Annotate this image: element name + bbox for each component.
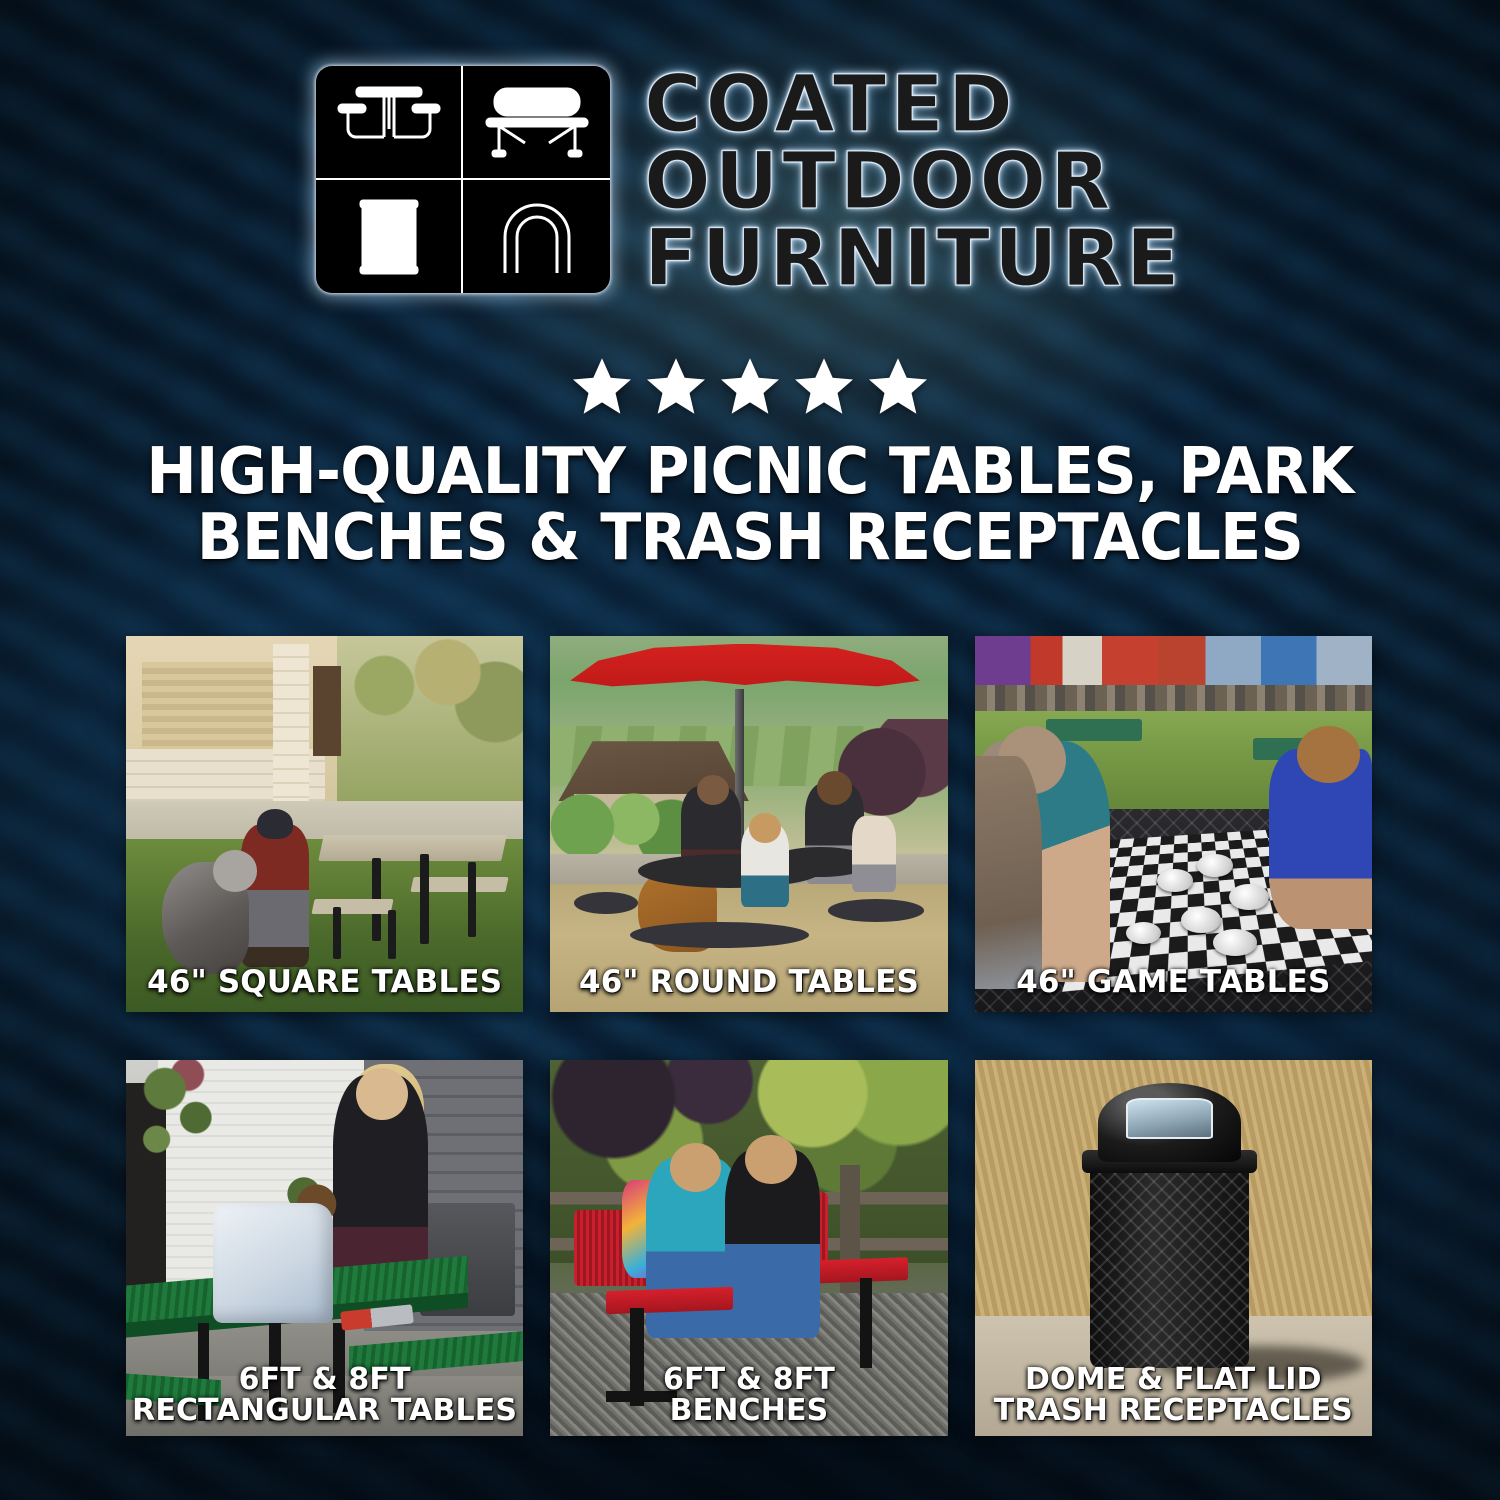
product-tile-benches[interactable]: 6FT & 8FT BENCHES (550, 1060, 947, 1436)
caption-trash-receptacles: DOME & FLAT LID TRASH RECEPTACLES (981, 1365, 1366, 1426)
star-icon (573, 358, 631, 414)
product-photo-round-tables (550, 636, 947, 1012)
caption-round-tables: 46" ROUND TABLES (556, 967, 941, 998)
flat-lid-trash-icon (316, 180, 463, 294)
product-tile-round-tables[interactable]: 46" ROUND TABLES (550, 636, 947, 1012)
brand-wordmark: COATED OUTDOOR FURNITURE (644, 66, 1183, 297)
caption-game-tables: 46" GAME TABLES (981, 967, 1366, 998)
product-photo-game-tables (975, 636, 1372, 1012)
product-photo-square-tables (126, 636, 523, 1012)
product-tile-square-tables[interactable]: 46" SQUARE TABLES (126, 636, 523, 1012)
caption-square-tables: 46" SQUARE TABLES (132, 967, 517, 998)
brand-word-coated: COATED (644, 68, 1183, 143)
page-title: HIGH-QUALITY PICNIC TABLES, PARK BENCHES… (130, 440, 1371, 572)
product-tile-trash-receptacles[interactable]: DOME & FLAT LID TRASH RECEPTACLES (975, 1060, 1372, 1436)
brand-word-furniture: FURNITURE (644, 222, 1183, 297)
picnic-table-icon (316, 66, 463, 180)
park-bench-icon (463, 66, 610, 180)
product-tile-rectangular-tables[interactable]: 6FT & 8FT RECTANGULAR TABLES (126, 1060, 523, 1436)
star-icon (795, 358, 853, 414)
star-icon (647, 358, 705, 414)
product-photo-grid: 46" SQUARE TABLES (126, 636, 1372, 1436)
caption-rectangular-tables: 6FT & 8FT RECTANGULAR TABLES (132, 1365, 517, 1426)
headline-line-2: BENCHES & TRASH RECEPTACLES (130, 506, 1371, 572)
product-tile-game-tables[interactable]: 46" GAME TABLES (975, 636, 1372, 1012)
promo-banner: COATED OUTDOOR FURNITURE HIGH-QUALITY PI… (0, 0, 1500, 1500)
logo-icon-grid (316, 66, 610, 293)
star-rating (0, 358, 1500, 414)
dome-lid-trash-icon (463, 180, 610, 294)
star-icon (721, 358, 779, 414)
brand-logo[interactable]: COATED OUTDOOR FURNITURE (0, 66, 1500, 297)
caption-benches: 6FT & 8FT BENCHES (556, 1365, 941, 1426)
star-icon (869, 358, 927, 414)
headline-line-1: HIGH-QUALITY PICNIC TABLES, PARK (130, 440, 1371, 506)
brand-word-outdoor: OUTDOOR (644, 145, 1183, 220)
